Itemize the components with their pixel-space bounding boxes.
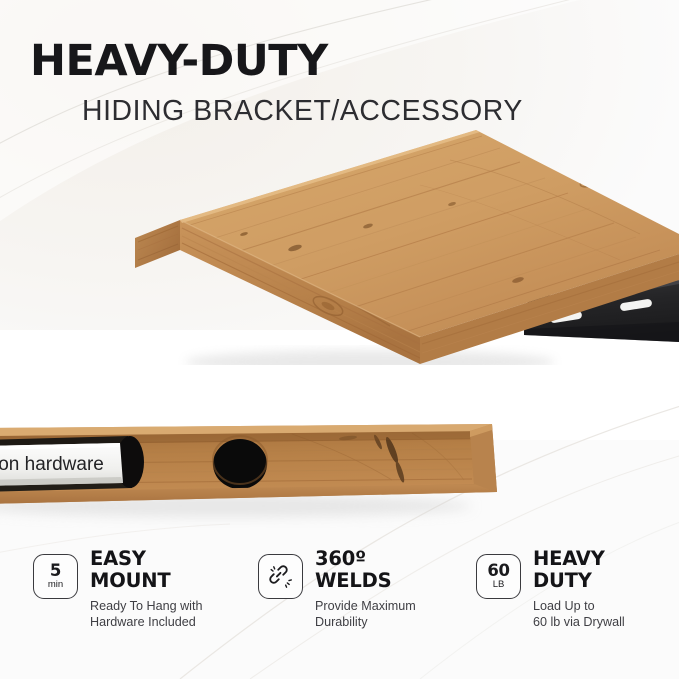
page-title: HEAVY-DUTY [30,40,650,83]
feature-row: 5 min EASY MOUNT Ready To Hang with Hard… [0,548,679,668]
feature-text-block: EASY MOUNT Ready To Hang with Hardware I… [90,548,202,631]
lower-shelf-photo: ion hardware [0,400,532,535]
feature-heavy-duty: 60 LB HEAVY DUTY Load Up to 60 lb via Dr… [460,548,679,631]
feature-360-welds: 360º WELDS Provide Maximum Durability [246,548,460,631]
page-subtitle: HIDING BRACKET/ACCESSORY [82,97,647,126]
feature-desc-line2: Durability [315,614,416,630]
badge-unit: min [48,580,63,590]
bracket-hole [213,439,267,489]
timer-badge: 5 min [33,554,78,599]
feature-title-line2: DUTY [533,570,625,592]
weld-badge [258,554,303,599]
badge-value: 60 [487,563,509,580]
feature-title-line1: EASY [90,548,202,570]
header-block: HEAVY-DUTY HIDING BRACKET/ACCESSORY [30,40,650,126]
feature-title-line1: HEAVY [533,548,625,570]
feature-desc-line2: 60 lb via Drywall [533,614,625,630]
feature-desc-line1: Ready To Hang with [90,598,202,614]
wood-shelf-lower: ion hardware [0,424,497,504]
feature-easy-mount: 5 min EASY MOUNT Ready To Hang with Hard… [0,548,246,631]
chain-link-icon [268,564,294,590]
feature-desc-line2: Hardware Included [90,614,202,630]
feature-desc-line1: Provide Maximum [315,598,416,614]
upper-shelf-photo: Installatio [120,130,679,365]
badge-unit: LB [493,580,505,590]
feature-title-line2: MOUNT [90,570,202,592]
feature-desc-line1: Load Up to [533,598,625,614]
feature-text-block: HEAVY DUTY Load Up to 60 lb via Drywall [533,548,625,631]
feature-title-line2: WELDS [315,570,416,592]
product-marketing-image: HEAVY-DUTY HIDING BRACKET/ACCESSORY [0,0,679,679]
installation-card-text-lower: ion hardware [0,454,104,475]
feature-title-line1: 360º [315,548,416,570]
feature-text-block: 360º WELDS Provide Maximum Durability [315,548,416,631]
badge-value: 5 [50,563,61,580]
installation-card-lower: ion hardware [0,443,123,486]
weight-badge: 60 LB [476,554,521,599]
